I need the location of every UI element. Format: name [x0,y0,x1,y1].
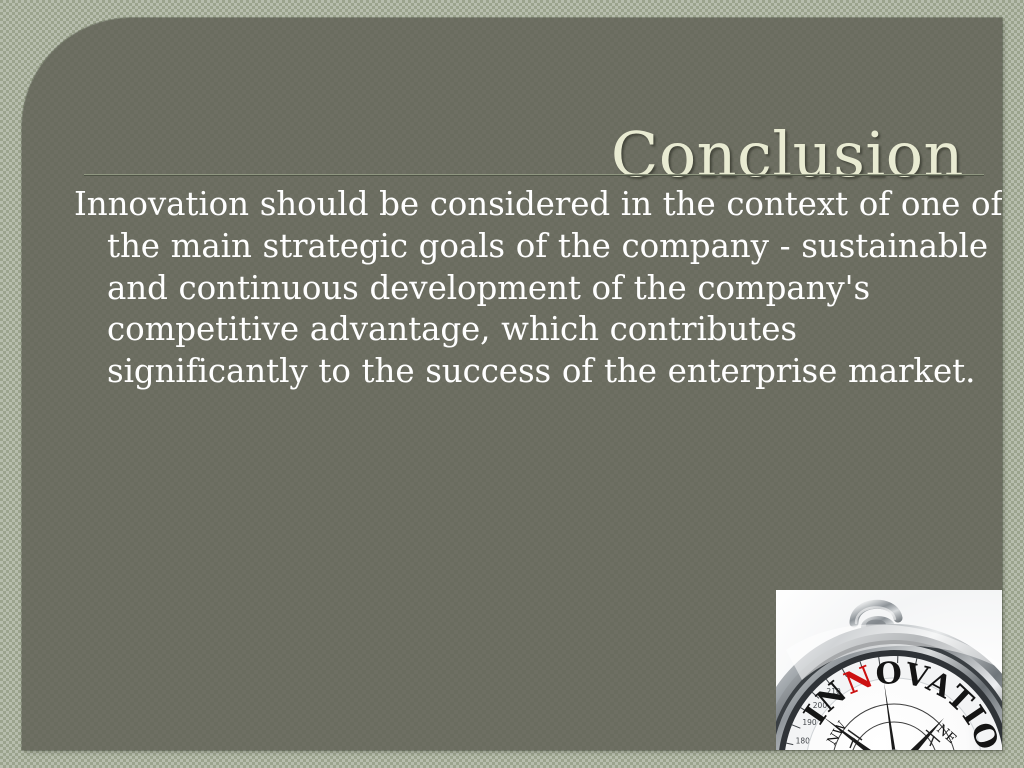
slide-content-panel: Conclusion Innovation should be consider… [22,18,1002,750]
page-title: Conclusion [62,122,964,187]
svg-text:180: 180 [796,736,811,745]
compass-innovation-photo: 140 150 160 170 180 190 200 210 [776,590,1002,750]
presentation-slide: Conclusion Innovation should be consider… [0,0,1024,768]
compass-illustration: 140 150 160 170 180 190 200 210 [776,590,1002,750]
slide-body-text: Innovation should be considered in the c… [74,184,1002,393]
title-divider [84,174,984,176]
